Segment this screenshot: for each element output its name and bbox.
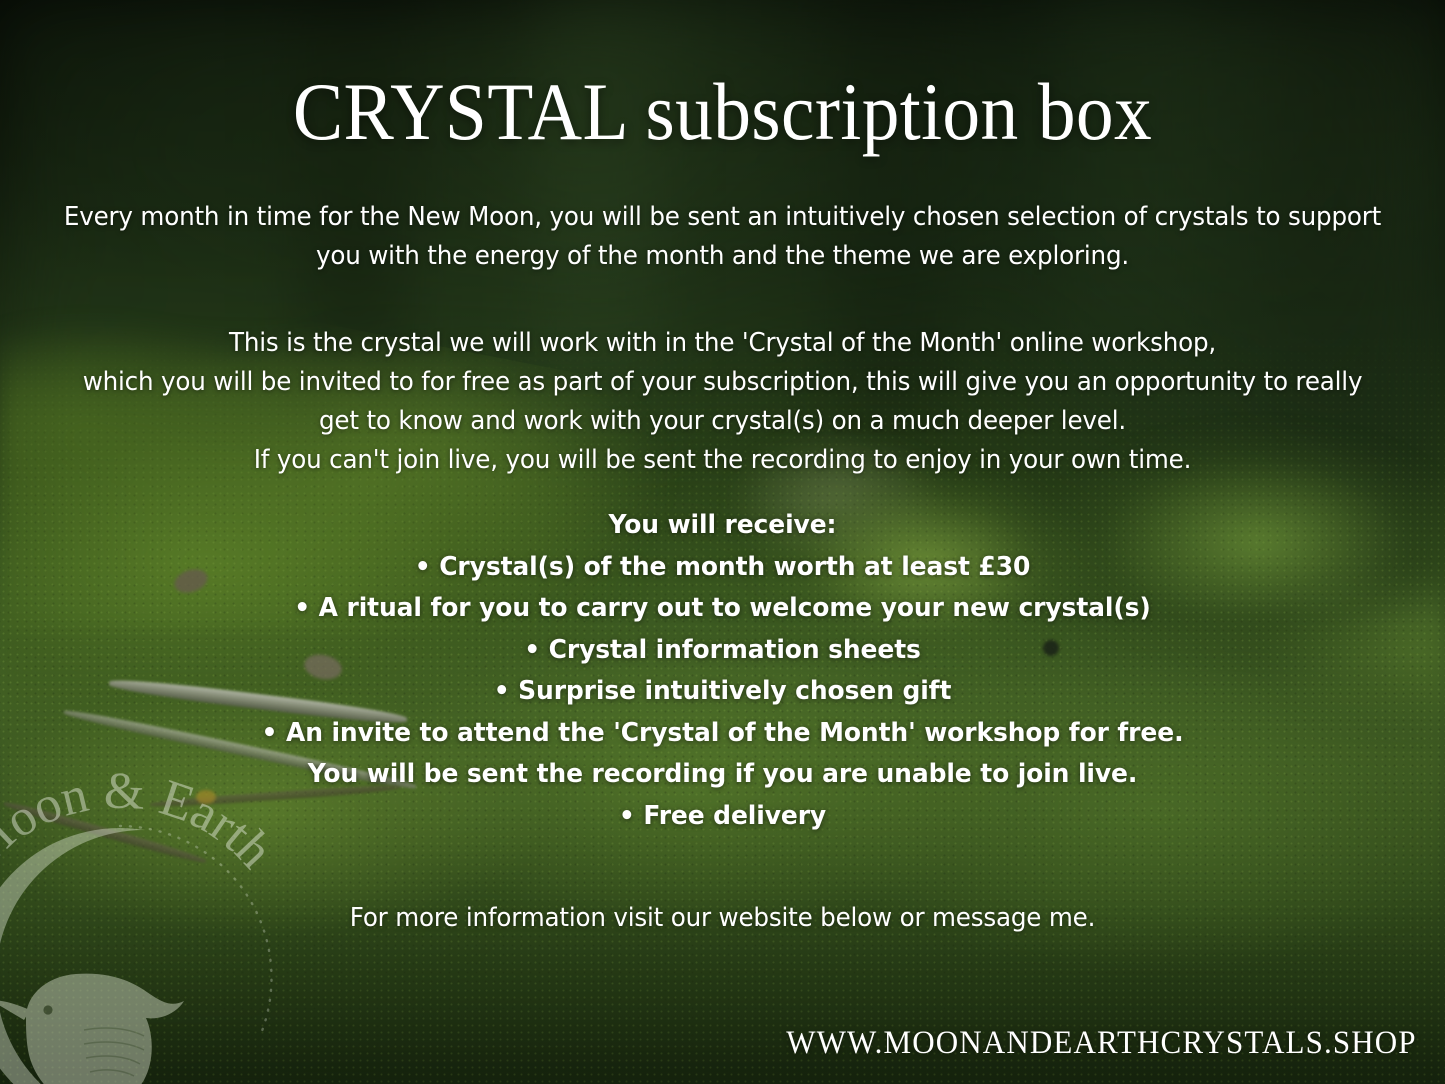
- list-item: • Crystal(s) of the month worth at least…: [52, 547, 1393, 589]
- list-item: • Surprise intuitively chosen gift: [52, 671, 1393, 713]
- workshop-paragraph: This is the crystal we will work with in…: [25, 324, 1419, 480]
- poster-content: CRYSTAL subscription box Every month in …: [0, 0, 1445, 1084]
- list-item: • Free delivery: [52, 796, 1393, 838]
- more-information-note: For more information visit our website b…: [25, 899, 1419, 937]
- intro-paragraph: Every month in time for the New Moon, yo…: [25, 198, 1419, 276]
- workshop-line-2: which you will be invited to for free as…: [83, 367, 1256, 397]
- watermark-arc-bottom-text: Crystals: [0, 1022, 75, 1084]
- receive-heading: You will receive:: [52, 505, 1393, 547]
- crystal-subscription-poster: CRYSTAL subscription box Every month in …: [0, 0, 1445, 1084]
- list-item: You will be sent the recording if you ar…: [52, 754, 1393, 796]
- crescent-moon-icon: [0, 828, 144, 1084]
- list-item: • An invite to attend the 'Crystal of th…: [52, 713, 1393, 755]
- workshop-line-1: This is the crystal we will work with in…: [229, 328, 1216, 358]
- wren-wing-detail: [84, 1028, 144, 1076]
- list-item: • A ritual for you to carry out to welco…: [52, 588, 1393, 630]
- list-item: • Crystal information sheets: [52, 630, 1393, 672]
- intro-line-1: Every month in time for the New Moon, yo…: [64, 202, 1249, 232]
- receive-list: You will receive: • Crystal(s) of the mo…: [29, 505, 1416, 837]
- page-title: CRYSTAL subscription box: [58, 69, 1387, 154]
- page-title-text: CRYSTAL subscription box: [293, 66, 1152, 157]
- website-url[interactable]: WWW.MOONANDEARTHCRYSTALS.SHOP: [787, 1025, 1417, 1062]
- wren-bird-icon: [0, 974, 184, 1084]
- workshop-line-4: If you can't join live, you will be sent…: [254, 445, 1192, 475]
- wren-eye: [43, 1005, 52, 1014]
